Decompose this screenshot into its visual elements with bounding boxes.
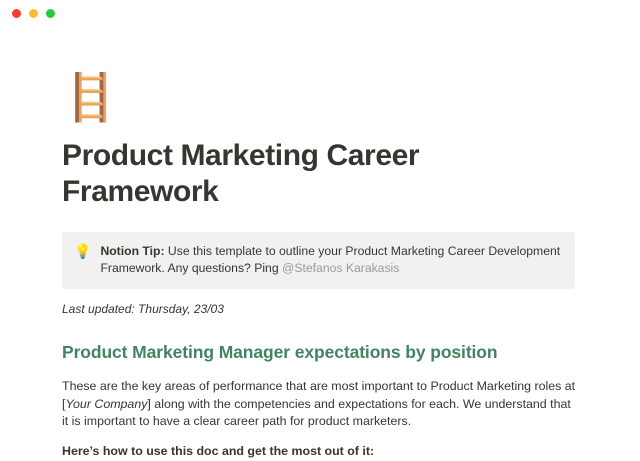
window-titlebar xyxy=(0,0,640,26)
document-page: 🪜 Product Marketing Career Framework 💡 N… xyxy=(0,74,640,461)
last-updated-text: Last updated: Thursday, 23/03 xyxy=(62,301,578,317)
intro-paragraph: These are the key areas of performance t… xyxy=(62,378,578,431)
lightbulb-emoji: 💡 xyxy=(74,243,91,260)
page-title[interactable]: Product Marketing Career Framework xyxy=(62,138,578,210)
ladder-emoji[interactable]: 🪜 xyxy=(62,74,578,132)
usage-instructions-lead: Here’s how to use this doc and get the m… xyxy=(62,443,578,461)
callout-block[interactable]: 💡 Notion Tip: Use this template to outli… xyxy=(62,232,575,289)
user-mention[interactable]: @Stefanos Karakasis xyxy=(282,261,399,275)
minimize-window-button[interactable] xyxy=(29,9,38,18)
callout-text: Notion Tip: Use this template to outline… xyxy=(100,243,561,277)
maximize-window-button[interactable] xyxy=(46,9,55,18)
callout-lead-label: Notion Tip: xyxy=(100,244,164,258)
traffic-light-group xyxy=(12,9,55,18)
section-heading[interactable]: Product Marketing Manager expectations b… xyxy=(62,341,578,364)
company-placeholder: Your Company xyxy=(65,397,147,411)
close-window-button[interactable] xyxy=(12,9,21,18)
